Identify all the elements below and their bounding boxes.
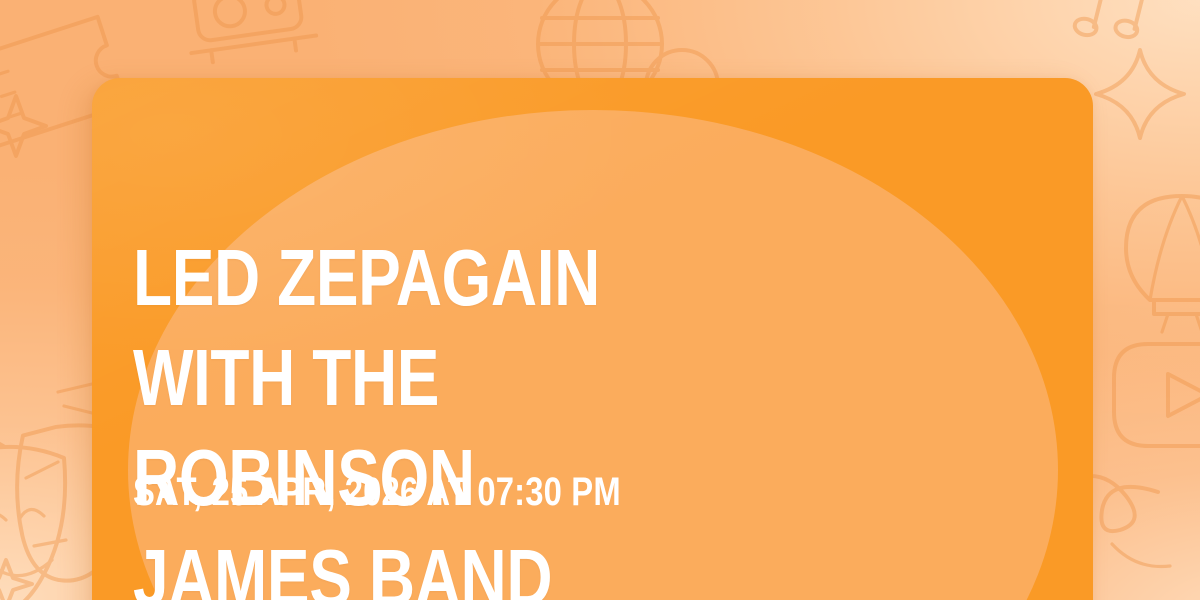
event-banner: Led Zepagain with the Robinson James Ban… <box>0 0 1200 600</box>
hot-air-balloon-icon <box>1126 196 1200 332</box>
star-icon <box>0 560 32 600</box>
play-video-icon <box>1114 344 1200 446</box>
projector-icon <box>181 0 318 65</box>
event-title: Led Zepagain with the Robinson James Ban… <box>133 228 709 600</box>
event-datetime: Sat, 25 Apr, 2026 at 07:30 PM <box>133 469 621 515</box>
music-note-icon <box>1073 0 1147 47</box>
event-card-content: Led Zepagain with the Robinson James Ban… <box>133 78 1053 600</box>
event-card[interactable]: Led Zepagain with the Robinson James Ban… <box>92 78 1093 600</box>
sparkle-icon <box>0 96 46 156</box>
sparkle-icon <box>1096 50 1184 138</box>
